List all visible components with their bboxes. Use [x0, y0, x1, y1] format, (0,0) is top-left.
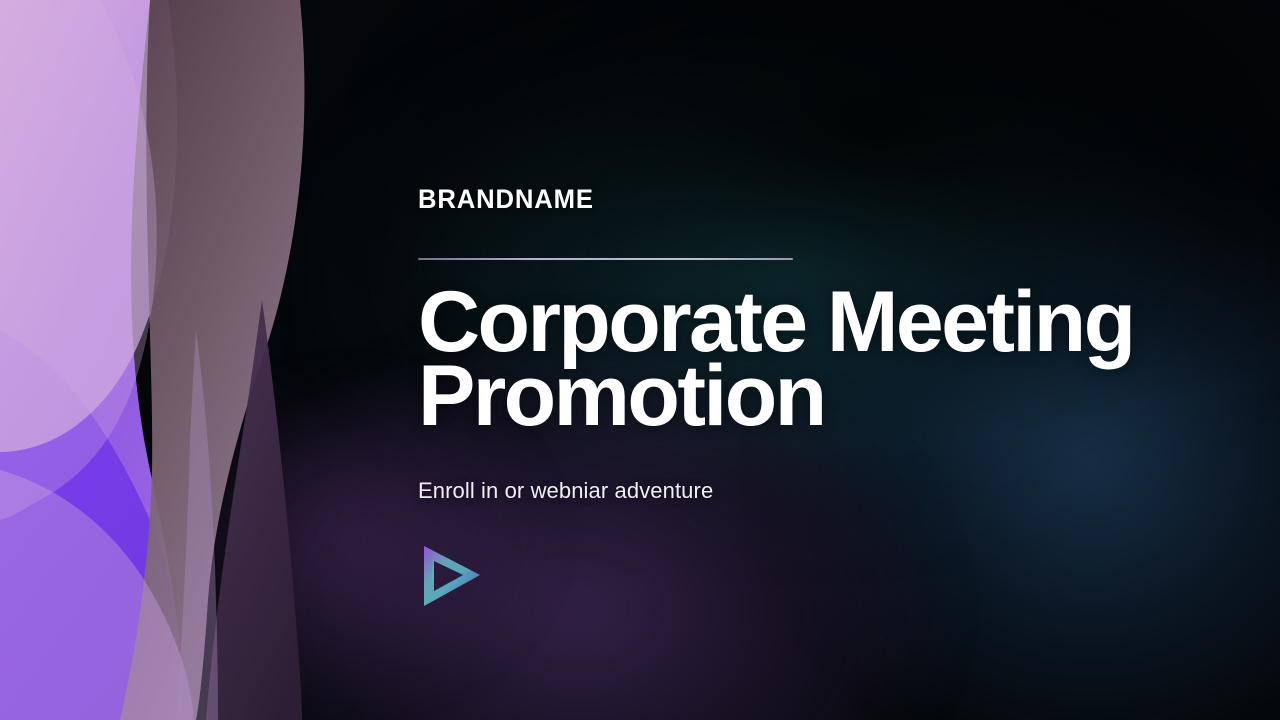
- subtitle: Enroll in or webniar adventure: [418, 478, 1218, 504]
- promo-slide: BRANDNAME Corporate Meeting Promotion En…: [0, 0, 1280, 720]
- abstract-ribbon-artwork: [0, 0, 330, 720]
- play-triangle-icon[interactable]: [418, 542, 484, 612]
- page-title: Corporate Meeting Promotion: [418, 286, 1218, 434]
- content-block: BRANDNAME Corporate Meeting Promotion En…: [418, 186, 1218, 612]
- divider: [418, 258, 793, 260]
- headline-line-2: Promotion: [418, 360, 1218, 434]
- brand-name: BRANDNAME: [418, 186, 1178, 213]
